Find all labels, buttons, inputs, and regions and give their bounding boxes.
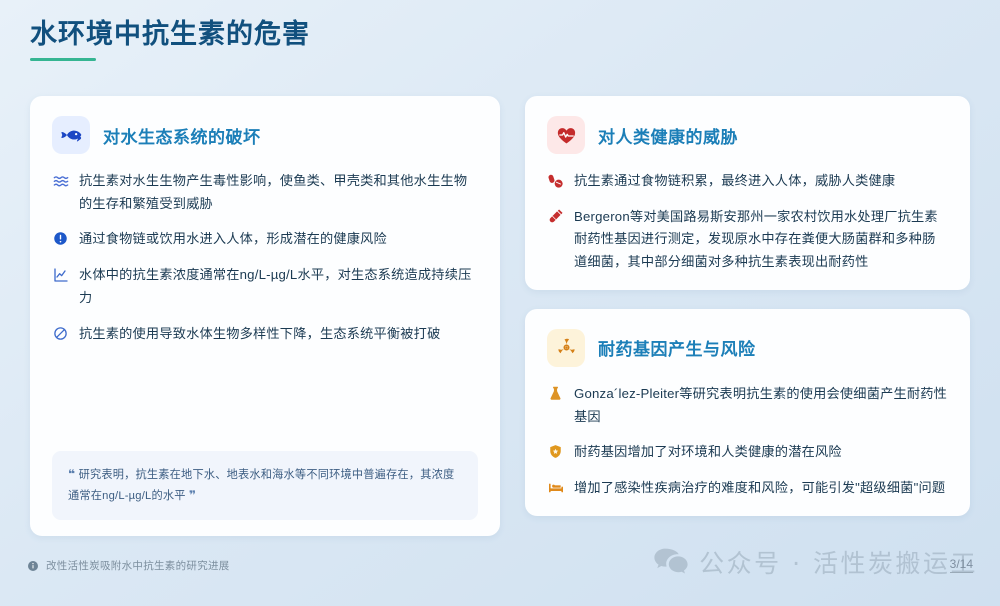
pills-icon [547, 172, 564, 189]
slide-footer: 改性活性炭吸附水中抗生素的研究进展 [27, 558, 230, 573]
water-waves-icon [52, 172, 69, 189]
wechat-icon [654, 547, 688, 577]
card-human-health-threat[interactable]: 对人类健康的威胁 抗生素通过食物链积累，最终进入人体，威胁人类健康 [525, 96, 970, 290]
shield-icon [547, 443, 564, 460]
quote-close-mark: ❞ [189, 488, 196, 502]
list-item: 抗生素通过食物链积累，最终进入人体，威胁人类健康 [547, 170, 948, 193]
list-item-text: 抗生素的使用导致水体生物多样性下降，生态系统平衡被打破 [79, 323, 440, 346]
card-title: 对水生态系统的破坏 [103, 123, 261, 148]
list-item-text: Bergeron等对美国路易斯安那州一家农村饮用水处理厂抗生素耐药性基因进行测定… [574, 206, 948, 274]
biohazard-icon [547, 329, 585, 367]
flask-icon [547, 385, 564, 402]
watermark: 公众号 · 活性炭搬运工 [654, 544, 978, 580]
quote-block: ❝ 研究表明，抗生素在地下水、地表水和海水等不同环境中普遍存在，其浓度通常在ng… [52, 451, 478, 520]
chart-line-icon [52, 266, 69, 283]
hospital-bed-icon [547, 479, 564, 496]
list-item-text: 水体中的抗生素浓度通常在ng/L-µg/L水平，对生态系统造成持续压力 [79, 264, 478, 309]
list-item: Bergeron等对美国路易斯安那州一家农村饮用水处理厂抗生素耐药性基因进行测定… [547, 206, 948, 274]
list-item-text: 抗生素通过食物链积累，最终进入人体，威胁人类健康 [574, 170, 895, 193]
card-title: 对人类健康的威胁 [598, 123, 738, 148]
list-item-text: Gonza´lez-Pleiter等研究表明抗生素的使用会使细菌产生耐药性基因 [574, 383, 948, 428]
list-item: 抗生素对水生生物产生毒性影响，使鱼类、甲壳类和其他水生生物的生存和繁殖受到威胁 [52, 170, 478, 215]
heart-pulse-icon [547, 116, 585, 154]
prohibition-icon [52, 325, 69, 342]
info-circle-icon [52, 230, 69, 247]
list-item: 通过食物链或饮用水进入人体，形成潜在的健康风险 [52, 228, 478, 251]
card-header: 对人类健康的威胁 [547, 116, 948, 154]
footer-text: 改性活性炭吸附水中抗生素的研究进展 [46, 558, 230, 573]
list-item: 抗生素的使用导致水体生物多样性下降，生态系统平衡被打破 [52, 323, 478, 346]
list-item-text: 抗生素对水生生物产生毒性影响，使鱼类、甲壳类和其他水生生物的生存和繁殖受到威胁 [79, 170, 478, 215]
slide-header: 水环境中抗生素的危害 [30, 18, 310, 61]
bullet-list: 抗生素通过食物链积累，最终进入人体，威胁人类健康 Bergeron等对美国路易斯… [547, 170, 948, 274]
watermark-text: 公众号 · 活性炭搬运工 [699, 544, 978, 580]
right-column: 对人类健康的威胁 抗生素通过食物链积累，最终进入人体，威胁人类健康 [525, 96, 970, 536]
card-header: 耐药基因产生与风险 [547, 329, 948, 367]
test-tube-icon [547, 208, 564, 225]
list-item: Gonza´lez-Pleiter等研究表明抗生素的使用会使细菌产生耐药性基因 [547, 383, 948, 428]
list-item: 增加了感染性疾病治疗的难度和风险，可能引发"超级细菌"问题 [547, 477, 948, 500]
card-title: 耐药基因产生与风险 [598, 335, 756, 360]
card-header: 对水生态系统的破坏 [52, 116, 478, 154]
list-item-text: 耐药基因增加了对环境和人类健康的潜在风险 [574, 441, 842, 464]
bullet-list: 抗生素对水生生物产生毒性影响，使鱼类、甲壳类和其他水生生物的生存和繁殖受到威胁 … [52, 170, 478, 345]
list-item-text: 通过食物链或饮用水进入人体，形成潜在的健康风险 [79, 228, 387, 251]
page-indicator: 3/14 [950, 557, 973, 573]
fish-icon [52, 116, 90, 154]
list-item-text: 增加了感染性疾病治疗的难度和风险，可能引发"超级细菌"问题 [574, 477, 945, 500]
list-item: 耐药基因增加了对环境和人类健康的潜在风险 [547, 441, 948, 464]
page-title: 水环境中抗生素的危害 [30, 18, 310, 50]
title-underline-accent [30, 58, 96, 61]
quote-open-mark: ❝ [68, 467, 75, 481]
cards-container: 对水生态系统的破坏 抗生素对水生生物产生毒性影响，使鱼类、甲壳类和其他水生生物的… [30, 96, 970, 536]
bullet-list: Gonza´lez-Pleiter等研究表明抗生素的使用会使细菌产生耐药性基因 … [547, 383, 948, 500]
left-column: 对水生态系统的破坏 抗生素对水生生物产生毒性影响，使鱼类、甲壳类和其他水生生物的… [30, 96, 500, 536]
card-aquatic-ecosystem-damage[interactable]: 对水生态系统的破坏 抗生素对水生生物产生毒性影响，使鱼类、甲壳类和其他水生生物的… [30, 96, 500, 536]
card-resistance-gene-risk[interactable]: 耐药基因产生与风险 Gonza´lez-Pleiter等研究表明抗生素的使用会使… [525, 309, 970, 516]
quote-text: 研究表明，抗生素在地下水、地表水和海水等不同环境中普遍存在，其浓度通常在ng/L… [68, 469, 454, 503]
info-circle-icon [27, 560, 39, 572]
list-item: 水体中的抗生素浓度通常在ng/L-µg/L水平，对生态系统造成持续压力 [52, 264, 478, 309]
